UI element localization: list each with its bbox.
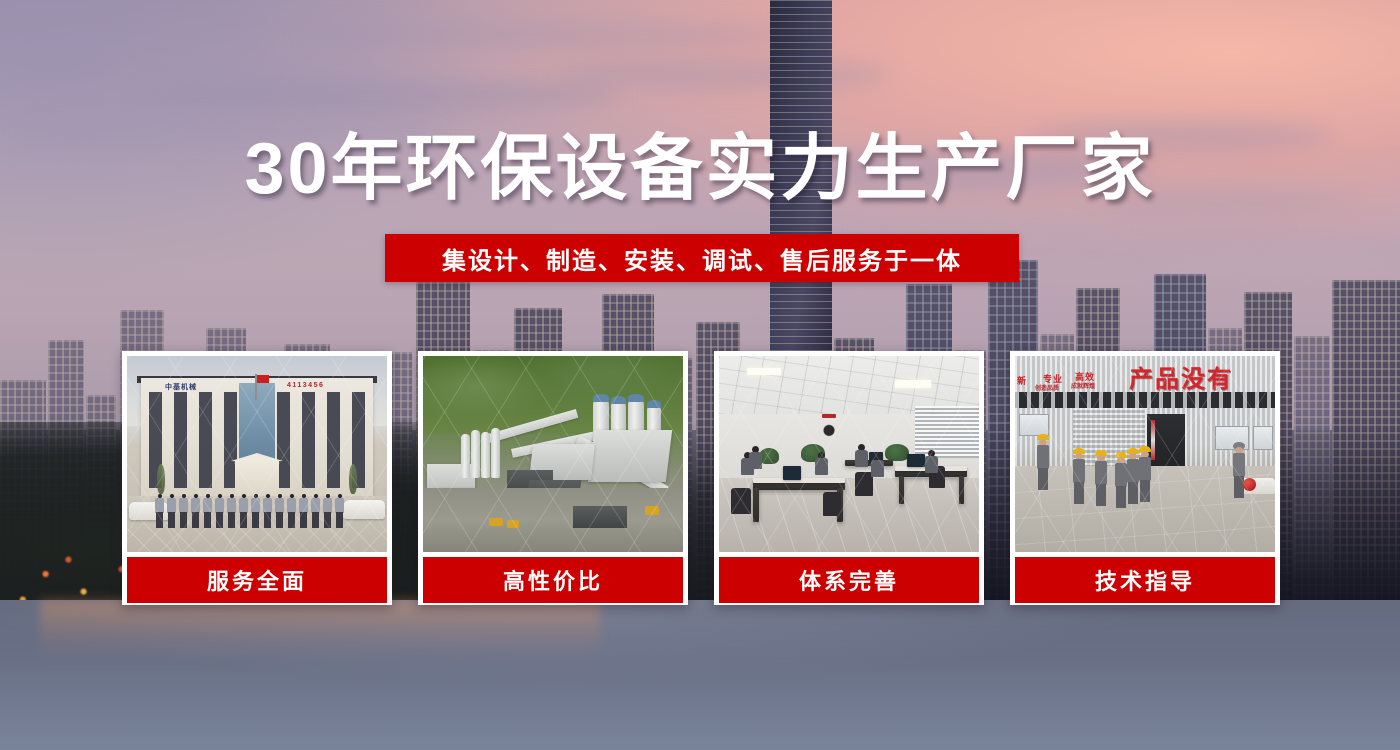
wall-slogan-small: 新 (1017, 374, 1027, 387)
card-caption: 体系完善 (719, 557, 979, 603)
card-caption: 高性价比 (423, 557, 683, 603)
feature-card[interactable]: 产品没有 新 专业 高效 创造品质 成就辉煌 (1010, 351, 1280, 605)
staff-group (155, 494, 359, 530)
card-caption-text: 体系完善 (799, 564, 899, 596)
subtitle-banner: 集设计、制造、安装、调试、售后服务于一体 (385, 234, 1019, 282)
card-photo-workers-training: 产品没有 新 专业 高效 创造品质 成就辉煌 (1015, 356, 1275, 552)
feature-card-list: 中基机械 4113456 (122, 351, 1278, 605)
wall-logo-icon (815, 418, 843, 438)
card-photo-office-interior (719, 356, 979, 552)
card-photo-office-building: 中基机械 4113456 (127, 356, 387, 552)
wall-slogan-sub: 创造品质 (1035, 383, 1059, 392)
card-caption-text: 服务全面 (207, 564, 307, 596)
red-helmet (1243, 478, 1256, 491)
card-caption-text: 高性价比 (503, 564, 603, 596)
page-title: 30年环保设备实力生产厂家 (0, 133, 1400, 205)
building-phone-text: 4113456 (287, 382, 324, 389)
building-sign-text: 中基机械 (165, 382, 197, 392)
river-reflection (40, 600, 600, 660)
wall-slogan-sub: 成就辉煌 (1071, 381, 1095, 390)
subtitle-text: 集设计、制造、安装、调试、售后服务于一体 (442, 241, 962, 276)
feature-card[interactable]: 高性价比 (418, 351, 688, 605)
feature-card[interactable]: 中基机械 4113456 (122, 351, 392, 605)
card-caption-text: 技术指导 (1095, 564, 1195, 596)
factory-wall-slogan: 产品没有 (1129, 359, 1233, 394)
feature-card[interactable]: 体系完善 (714, 351, 984, 605)
card-photo-plant-aerial (423, 356, 683, 552)
card-caption: 技术指导 (1015, 557, 1275, 603)
hero-banner: 30年环保设备实力生产厂家 集设计、制造、安装、调试、售后服务于一体 中基机械 … (0, 0, 1400, 750)
card-caption: 服务全面 (127, 557, 387, 603)
